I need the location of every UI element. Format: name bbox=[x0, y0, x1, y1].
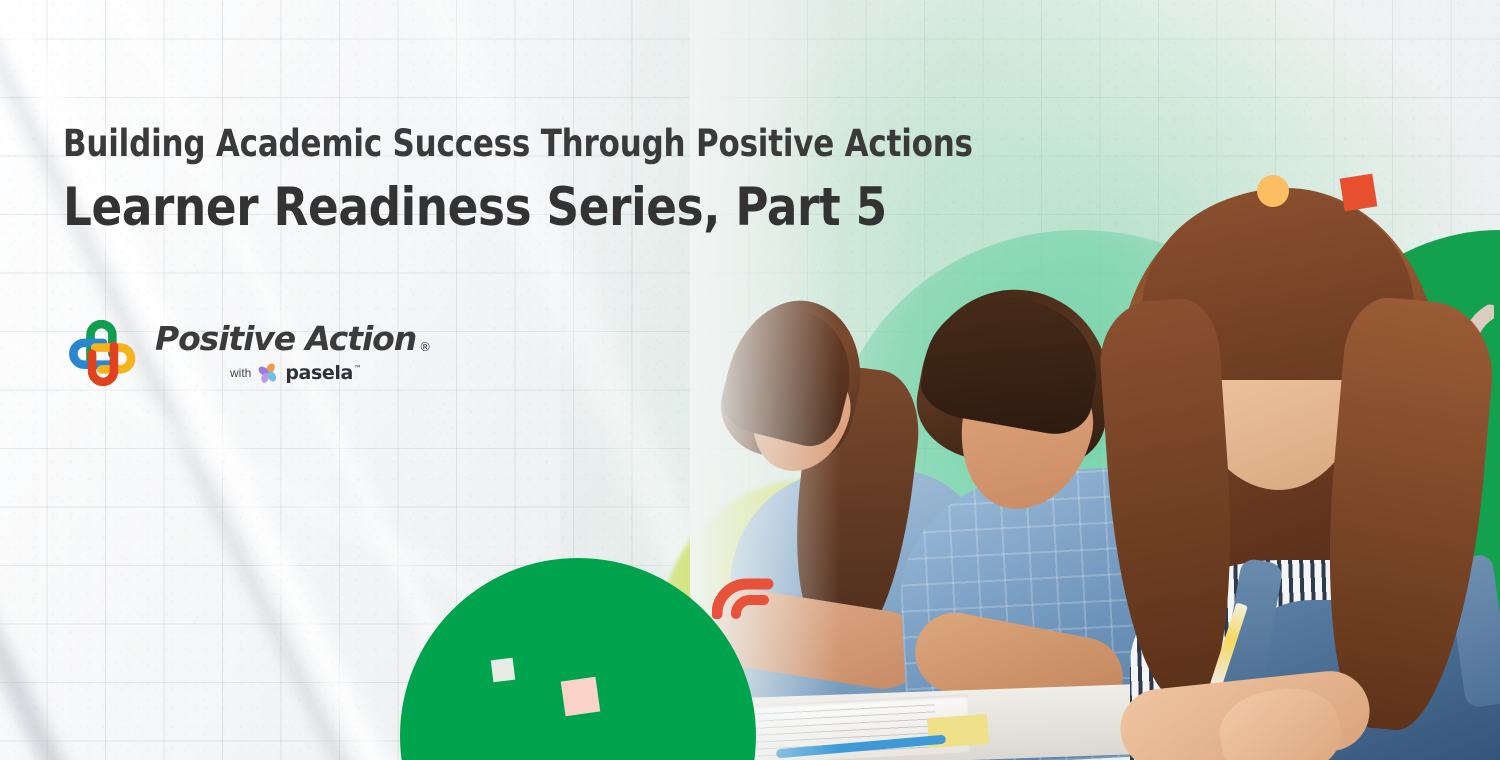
registered-mark: ® bbox=[419, 341, 430, 353]
pink-square bbox=[561, 677, 601, 717]
banner-root: Building Academic Success Through Positi… bbox=[0, 0, 1500, 760]
trademark-mark: ™ bbox=[354, 365, 362, 373]
with-label: with bbox=[230, 366, 251, 380]
orange-double-arc-icon bbox=[712, 561, 774, 619]
partner-lockup: with pasela™ bbox=[230, 362, 430, 384]
banner-title: Learner Readiness Series, Part 5 bbox=[63, 177, 992, 238]
red-square bbox=[1340, 174, 1378, 212]
pasela-pinwheel-icon bbox=[257, 362, 279, 384]
positive-action-logo[interactable]: Positive Action® with pasela™ bbox=[64, 313, 430, 393]
pasela-wordmark-text: pasela bbox=[285, 364, 353, 383]
yellow-dot bbox=[1257, 175, 1289, 207]
white-square bbox=[491, 658, 516, 683]
positive-action-cross-icon bbox=[64, 313, 142, 393]
pasela-wordmark: pasela™ bbox=[285, 364, 361, 383]
heading-block: Building Academic Success Through Positi… bbox=[63, 122, 1041, 238]
banner-kicker: Building Academic Success Through Positi… bbox=[63, 122, 973, 165]
logo-text-block: Positive Action® with pasela™ bbox=[155, 322, 430, 384]
logo-wordmark: Positive Action® bbox=[155, 322, 430, 355]
logo-wordmark-text: Positive Action bbox=[155, 322, 416, 355]
students-photo bbox=[690, 0, 1500, 760]
